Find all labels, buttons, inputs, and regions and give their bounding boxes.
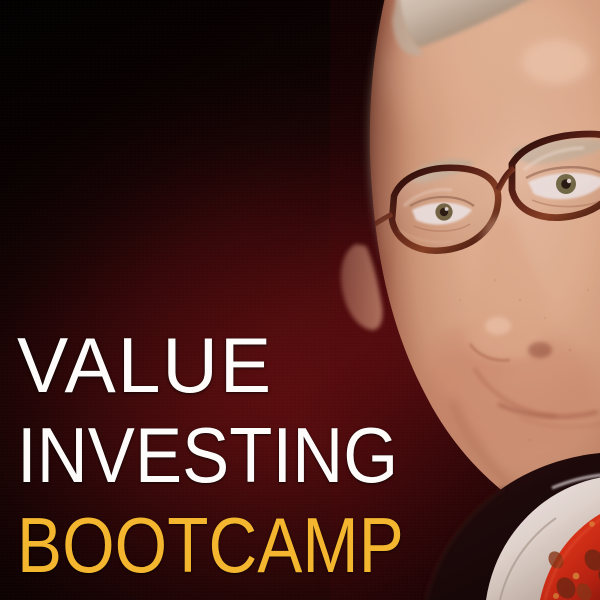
podcast-cover-art: VALUE INVESTING BOOTCAMP <box>0 0 600 600</box>
cover-title: VALUE INVESTING BOOTCAMP <box>17 326 464 584</box>
title-line-value: VALUE <box>17 326 457 404</box>
title-line-bootcamp: BOOTCAMP <box>17 506 404 584</box>
title-line-investing: INVESTING <box>17 416 422 494</box>
